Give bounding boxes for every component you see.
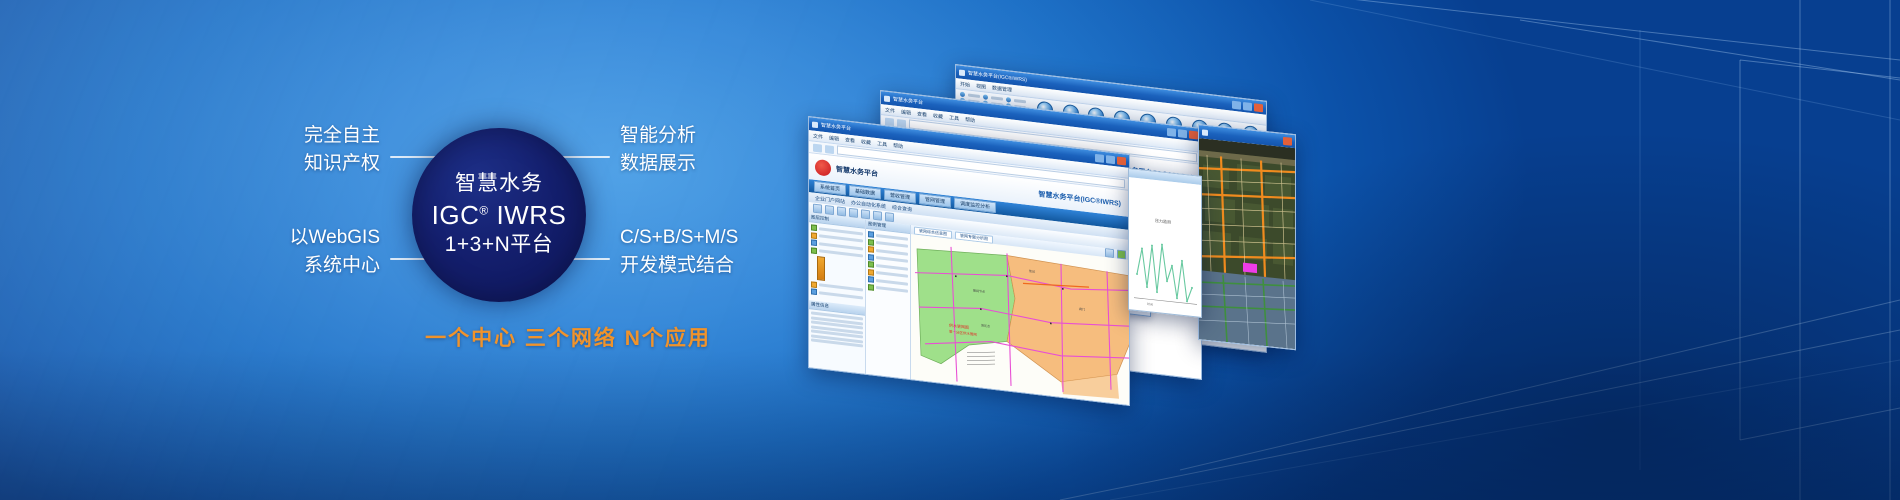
- map-canvas[interactable]: 管网节点 泵站 阀门 测压点 供水管网图 第一分区供水管网: [911, 234, 1129, 406]
- legend-swatch: [868, 246, 874, 253]
- front-brand-text: 智慧水务平台: [836, 164, 878, 179]
- legend-swatch: [868, 284, 874, 291]
- front-platform-title: 智慧水务平台(IGC®IWRS): [1038, 189, 1121, 209]
- ribbon-small-label: [968, 94, 980, 98]
- legend-swatch: [868, 231, 874, 238]
- ribbon-tab-0[interactable]: 开始: [960, 80, 970, 88]
- label-bottom-left-line1: 以WebGIS: [180, 224, 380, 252]
- ribbon-small-icon[interactable]: [1006, 97, 1011, 103]
- middle-window-title: 智慧水务平台: [893, 96, 923, 107]
- close-button[interactable]: [1117, 156, 1126, 165]
- menu-item-help[interactable]: 帮助: [965, 116, 975, 124]
- ribbon-small-icon[interactable]: [983, 94, 988, 100]
- svg-text:泵站: 泵站: [1029, 268, 1035, 274]
- label-top-left-line2: 知识产权: [180, 150, 380, 178]
- label-top-right-line1: 智能分析: [620, 122, 840, 150]
- menu-item-favorites[interactable]: 收藏: [861, 138, 871, 146]
- street-map-graphic: [1199, 138, 1295, 349]
- maximize-button[interactable]: [1106, 155, 1115, 164]
- legend-swatch: [868, 261, 874, 268]
- svg-text:测压点: 测压点: [981, 322, 990, 328]
- ribbon-small-icon[interactable]: [960, 92, 965, 98]
- label-top-right-line2: 数据展示: [620, 150, 840, 178]
- tagline: 一个中心 三个网络 N个应用: [358, 322, 778, 352]
- legend-swatch: [868, 276, 874, 283]
- menu-item-view[interactable]: 查看: [917, 110, 927, 118]
- svg-text:时间: 时间: [1147, 301, 1153, 307]
- label-bottom-right-line1: C/S+B/S+M/S: [620, 224, 860, 252]
- label-top-left-line1: 完全自主: [180, 122, 380, 150]
- hub-title: 智慧水务: [455, 172, 543, 197]
- hub-platform-line: 1+3+N平台: [445, 233, 554, 258]
- connector-top-left: [390, 156, 438, 158]
- minimize-button[interactable]: [1095, 153, 1104, 162]
- ribbon-small-label: [1014, 99, 1026, 103]
- label-bottom-left-line2: 系统中心: [180, 252, 380, 280]
- hub-product-suffix: IWRS: [496, 200, 566, 230]
- registered-mark-icon: ®: [479, 204, 488, 218]
- window-chart[interactable]: 压力监测 时间: [1128, 168, 1202, 318]
- window-right-map[interactable]: [1198, 124, 1296, 350]
- minimize-button[interactable]: [1167, 127, 1176, 136]
- menu-item-help[interactable]: 帮助: [893, 142, 903, 150]
- layer-checkbox[interactable]: [811, 288, 817, 295]
- legend-swatch: [868, 239, 874, 246]
- ribbon-tab-2[interactable]: 数据管理: [992, 84, 1012, 93]
- svg-text:阀门: 阀门: [1079, 306, 1085, 312]
- minimize-button[interactable]: [1232, 100, 1241, 109]
- menu-item-favorites[interactable]: 收藏: [933, 112, 943, 120]
- menu-item-tools[interactable]: 工具: [877, 140, 887, 148]
- zoom-in-tool-icon[interactable]: [825, 205, 834, 215]
- maximize-button[interactable]: [1178, 129, 1187, 138]
- ribbon-tab-1[interactable]: 视图: [976, 82, 986, 90]
- menu-item-edit[interactable]: 编辑: [901, 108, 911, 116]
- menu-item-file[interactable]: 文件: [885, 106, 895, 114]
- label-top-left: 完全自主 知识产权: [180, 122, 380, 177]
- hub-product-prefix: IGC: [432, 200, 480, 230]
- layer-checkbox[interactable]: [811, 281, 817, 288]
- app-icon: [1202, 129, 1208, 136]
- legend-swatch: [868, 269, 874, 276]
- map-graphic: 管网节点 泵站 阀门 测压点 供水管网图 第一分区供水管网: [911, 234, 1129, 406]
- legend-swatch: [868, 254, 874, 261]
- menu-item-view[interactable]: 查看: [845, 136, 855, 144]
- label-bottom-right-line2: 开发模式结合: [620, 252, 860, 280]
- rightmap-canvas[interactable]: [1199, 138, 1295, 349]
- zoom-out-tool-icon[interactable]: [837, 206, 846, 216]
- identify-tool-icon[interactable]: [873, 211, 882, 221]
- close-button[interactable]: [1189, 130, 1198, 139]
- menu-item-tools[interactable]: 工具: [949, 114, 959, 122]
- pan-tool-icon[interactable]: [813, 204, 822, 214]
- pressure-line-chart: 压力监测 时间: [1129, 177, 1199, 313]
- connector-top-right: [562, 156, 610, 158]
- maximize-button[interactable]: [1243, 101, 1252, 110]
- close-button[interactable]: [1254, 103, 1263, 112]
- measure-tool-icon[interactable]: [861, 209, 870, 219]
- label-bottom-right: C/S+B/S+M/S 开发模式结合: [620, 224, 860, 279]
- banner-stage: 智慧水务平台(IGC®IWRS) 开始 视图 数据管理: [0, 0, 1900, 500]
- center-hub: 智慧水务 IGC® IWRS 1+3+N平台: [412, 128, 586, 302]
- label-top-right: 智能分析 数据展示: [620, 122, 840, 177]
- select-tool-icon[interactable]: [849, 208, 858, 218]
- gis-map-panel[interactable]: 管网综合信息图 管网专题分析图: [911, 225, 1129, 406]
- app-icon: [884, 95, 890, 102]
- print-tool-icon[interactable]: [885, 212, 894, 222]
- ribbon-small-label: [991, 96, 1003, 100]
- close-button[interactable]: [1283, 136, 1292, 145]
- app-icon: [959, 69, 965, 76]
- hub-product-name: IGC® IWRS: [432, 200, 567, 231]
- label-bottom-left: 以WebGIS 系统中心: [180, 224, 380, 279]
